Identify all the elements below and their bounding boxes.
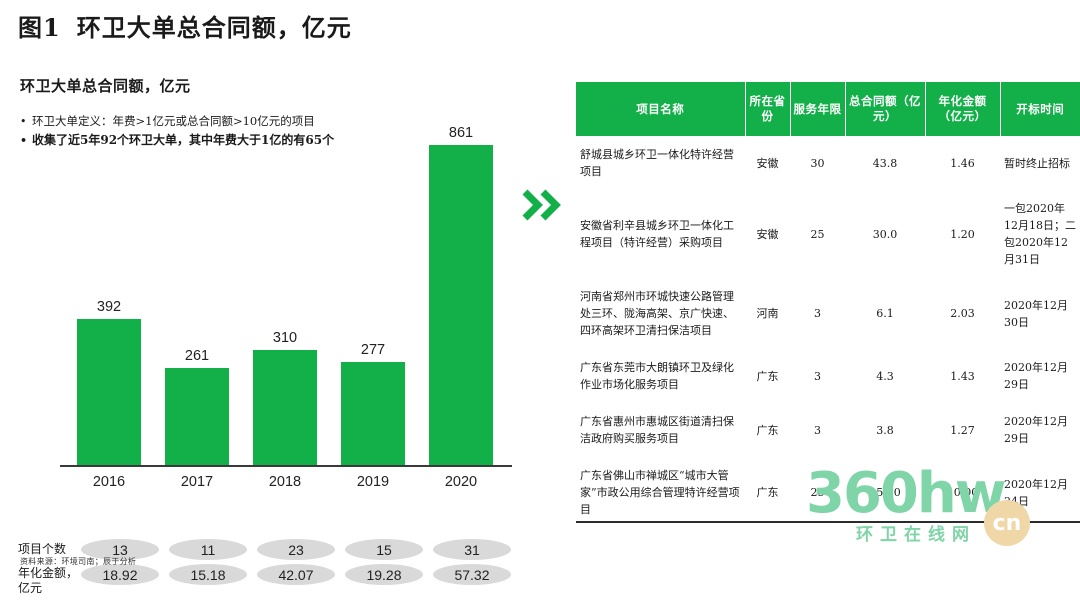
cell-annual-amount: 1.43 (925, 349, 1000, 403)
bar-value-2017: 261 (156, 348, 238, 364)
table-row: 广东省惠州市惠城区街道清扫保洁政府购买服务项目 广东 3 3.8 1.27 20… (576, 403, 1080, 457)
figure-title-text: 环卫大单总合同额，亿元 (77, 13, 352, 42)
cell-province: 河南 (745, 278, 790, 349)
x-tick-2017: 2017 (156, 474, 238, 490)
chart-subtitle: 环卫大单总合同额，亿元 (20, 75, 191, 96)
row-label-annual-amount: 年化金额，亿元 (18, 566, 82, 596)
bullet-dot-icon: • (20, 131, 32, 150)
source-note: 资料来源：环境司南；辰于分析 (20, 556, 136, 567)
col-header-service-years: 服务年限 (790, 82, 845, 136)
chart-annotation-table: 项目个数 13 11 23 15 31 年化金额，亿元 18.92 15.18 … (0, 538, 540, 608)
cell-total-contract: 4.3 (845, 349, 925, 403)
bar-column-2016: 392 (68, 135, 150, 465)
table-row: 河南省郑州市环城快速公路管理处三环、陇海高架、京广快速、四环高架环卫清扫保洁项目… (576, 278, 1080, 349)
bar-column-2019: 277 (332, 135, 414, 465)
cell-project-name: 河南省郑州市环城快速公路管理处三环、陇海高架、京广快速、四环高架环卫清扫保洁项目 (576, 278, 745, 349)
row-label-project-count: 项目个数 (18, 542, 66, 557)
table-bottom-rule (576, 521, 1080, 523)
cell-total-contract: 6.1 (845, 278, 925, 349)
x-tick-2019: 2019 (332, 474, 414, 490)
cell-annual-amount: 1.46 (925, 136, 1000, 190)
bar-value-2016: 392 (68, 299, 150, 315)
cell-bid-date: 一包2020年12月18日；二包2020年12月31日 (1000, 190, 1080, 278)
col-header-project-name: 项目名称 (576, 82, 745, 136)
cell-annual-amount: 1.27 (925, 403, 1000, 457)
bar-value-2018: 310 (244, 330, 326, 346)
cell-annual-amount: 10.00 (925, 457, 1000, 528)
table-row: 安徽省利辛县城乡环卫一体化工程项目（特许经营）采购项目 安徽 25 30.0 1… (576, 190, 1080, 278)
project-count-2018: 23 (257, 539, 335, 560)
bar-2020 (429, 145, 493, 465)
cell-bid-date: 2020年12月24日 (1000, 457, 1080, 528)
x-tick-2020: 2020 (420, 474, 502, 490)
annual-amount-2019: 19.28 (345, 564, 423, 585)
double-chevron-right-icon (521, 188, 567, 222)
cell-bid-date: 2020年12月29日 (1000, 403, 1080, 457)
cell-service-years: 25 (790, 190, 845, 278)
bar-column-2018: 310 (244, 135, 326, 465)
cell-project-name: 舒城县城乡环卫一体化特许经营项目 (576, 136, 745, 190)
bar-value-2020: 861 (420, 125, 502, 141)
x-tick-2016: 2016 (68, 474, 150, 490)
cell-service-years: 3 (790, 403, 845, 457)
bar-2019 (341, 362, 405, 465)
bar-value-2019: 277 (332, 342, 414, 358)
project-count-2020: 31 (433, 539, 511, 560)
cell-total-contract: 43.8 (845, 136, 925, 190)
cell-annual-amount: 1.20 (925, 190, 1000, 278)
bar-2018 (253, 350, 317, 465)
cell-province: 安徽 (745, 190, 790, 278)
bullet-dot-icon: • (20, 112, 32, 131)
bar-2016 (77, 319, 141, 465)
cell-province: 广东 (745, 457, 790, 528)
table-row: 广东省东莞市大朗镇环卫及绿化作业市场化服务项目 广东 3 4.3 1.43 20… (576, 349, 1080, 403)
figure-number: 图1 (18, 13, 61, 42)
cell-project-name: 广东省惠州市惠城区街道清扫保洁政府购买服务项目 (576, 403, 745, 457)
col-header-annual-amount: 年化金额（亿元） (925, 82, 1000, 136)
bar-chart: 392 2016 261 2017 310 2018 277 2019 (60, 128, 510, 528)
cell-project-name: 安徽省利辛县城乡环卫一体化工程项目（特许经营）采购项目 (576, 190, 745, 278)
cell-bid-date: 暂时终止招标 (1000, 136, 1080, 190)
cell-province: 广东 (745, 349, 790, 403)
left-chart-panel: 环卫大单总合同额，亿元 • 环卫大单定义：年费>1亿元或总合同额>10亿元的项目… (0, 60, 540, 577)
table-row: 广东省佛山市禅城区“城市大管家”市政公用综合管理特许经营项目 广东 25 250… (576, 457, 1080, 528)
cell-bid-date: 2020年12月30日 (1000, 278, 1080, 349)
cell-service-years: 25 (790, 457, 845, 528)
figure-title: 图1环卫大单总合同额，亿元 (18, 8, 352, 43)
bar-column-2017: 261 (156, 135, 238, 465)
annual-amount-2016: 18.92 (81, 564, 159, 585)
cell-service-years: 3 (790, 278, 845, 349)
cell-total-contract: 3.8 (845, 403, 925, 457)
projects-table: 项目名称 所在省份 服务年限 总合同额（亿元） 年化金额（亿元） 开标时间 舒城… (576, 82, 1080, 528)
x-axis-line (60, 465, 512, 467)
table-row: 舒城县城乡环卫一体化特许经营项目 安徽 30 43.8 1.46 暂时终止招标 (576, 136, 1080, 190)
cell-province: 安徽 (745, 136, 790, 190)
x-tick-2018: 2018 (244, 474, 326, 490)
project-count-2019: 15 (345, 539, 423, 560)
cell-total-contract: 250.0 (845, 457, 925, 528)
table-header-row: 项目名称 所在省份 服务年限 总合同额（亿元） 年化金额（亿元） 开标时间 (576, 82, 1080, 136)
cell-annual-amount: 2.03 (925, 278, 1000, 349)
col-header-total-contract: 总合同额（亿元） (845, 82, 925, 136)
cell-service-years: 30 (790, 136, 845, 190)
col-header-bid-date: 开标时间 (1000, 82, 1080, 136)
cell-province: 广东 (745, 403, 790, 457)
bar-column-2020: 861 (420, 135, 502, 465)
figure-page: 图1环卫大单总合同额，亿元 环卫大单总合同额，亿元 • 环卫大单定义：年费>1亿… (0, 0, 1080, 577)
bar-2017 (165, 368, 229, 465)
col-header-province: 所在省份 (745, 82, 790, 136)
project-count-2017: 11 (169, 539, 247, 560)
cell-project-name: 广东省东莞市大朗镇环卫及绿化作业市场化服务项目 (576, 349, 745, 403)
annual-amount-2018: 42.07 (257, 564, 335, 585)
cell-total-contract: 30.0 (845, 190, 925, 278)
annual-amount-2020: 57.32 (433, 564, 511, 585)
annual-amount-2017: 15.18 (169, 564, 247, 585)
cell-service-years: 3 (790, 349, 845, 403)
cell-project-name: 广东省佛山市禅城区“城市大管家”市政公用综合管理特许经营项目 (576, 457, 745, 528)
cell-bid-date: 2020年12月29日 (1000, 349, 1080, 403)
